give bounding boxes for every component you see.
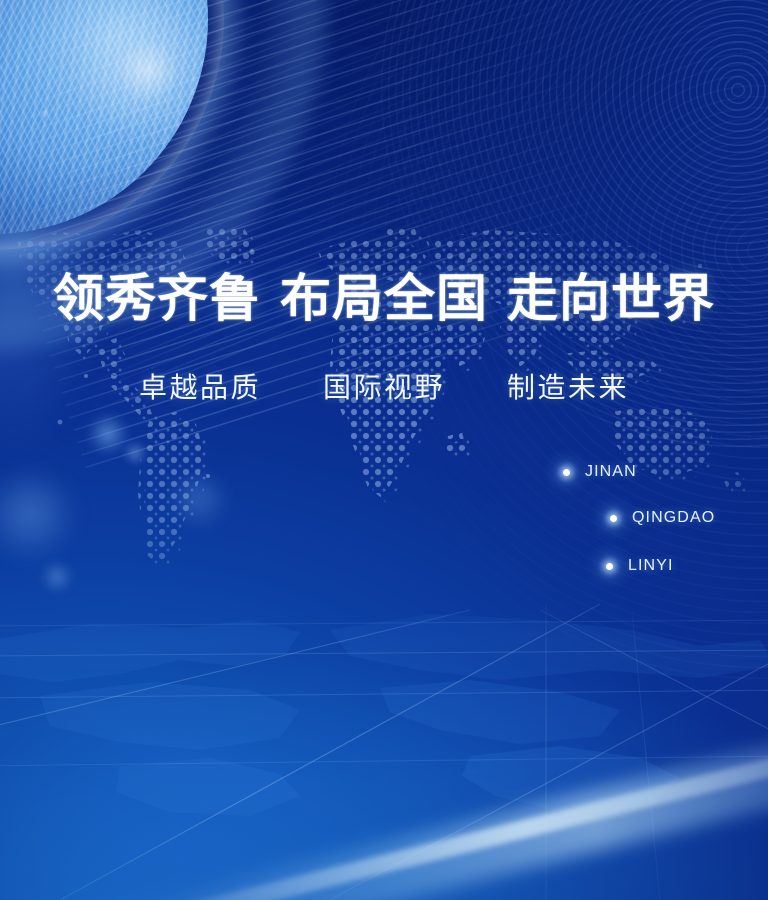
headline-part-2: 布局全国 [280, 269, 488, 329]
city-label-jinan: JINAN [585, 463, 637, 481]
headline-part-3: 走向世界 [507, 269, 715, 329]
city-dot-marker-icon [563, 469, 570, 476]
subtitle-part-2: 国际视野 [323, 371, 445, 404]
city-marker-jinan[interactable]: JINAN [563, 463, 637, 481]
hero-banner: 领秀齐鲁布局全国走向世界 卓越品质国际视野制造未来 JINAN QINGDAO … [0, 0, 768, 900]
perspective-world-grid-graphic [0, 570, 768, 900]
city-marker-qingdao[interactable]: QINGDAO [610, 509, 715, 527]
city-label-qingdao: QINGDAO [632, 509, 715, 527]
subtitle-part-1: 卓越品质 [139, 371, 261, 404]
page-subtitle: 卓越品质国际视野制造未来 [0, 368, 768, 408]
page-title: 领秀齐鲁布局全国走向世界 [0, 268, 768, 330]
headline-part-1: 领秀齐鲁 [53, 269, 261, 329]
city-label-linyi: LINYI [628, 557, 674, 575]
city-marker-linyi[interactable]: LINYI [606, 557, 674, 575]
city-dot-marker-icon [610, 515, 617, 522]
city-dot-marker-icon [606, 563, 613, 570]
subtitle-part-3: 制造未来 [507, 371, 629, 404]
